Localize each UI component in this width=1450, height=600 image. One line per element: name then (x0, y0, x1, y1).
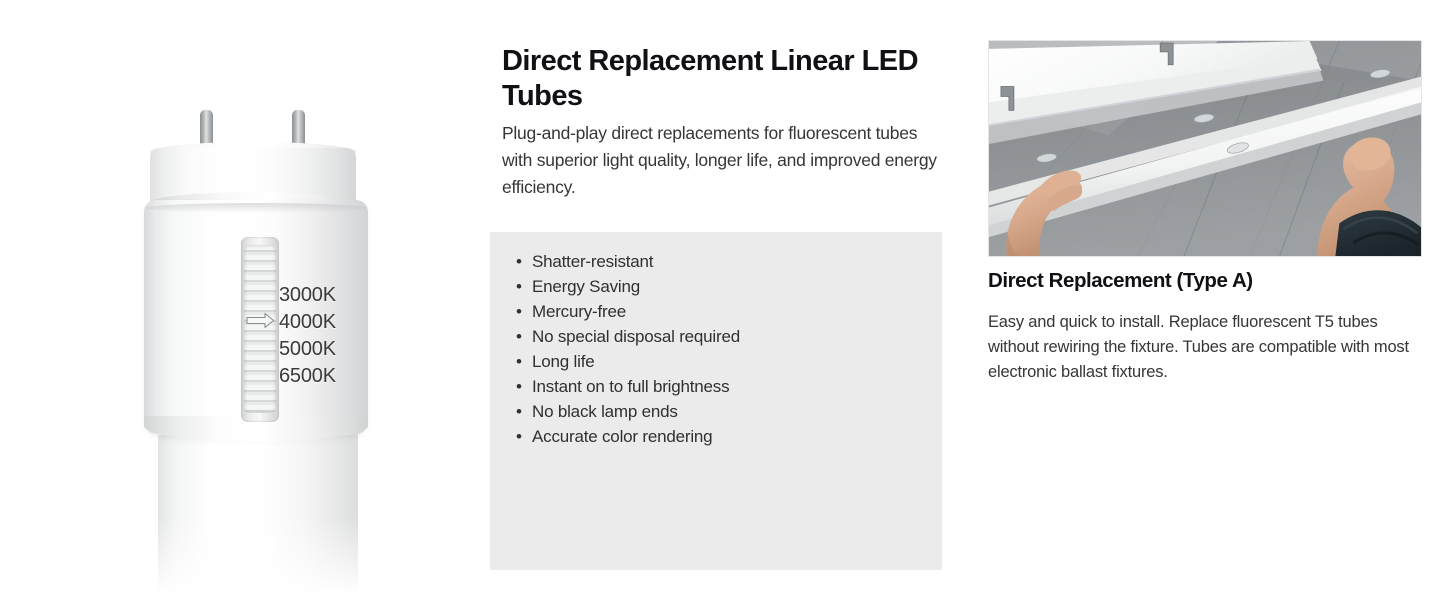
installation-photo-graphic (989, 41, 1421, 256)
list-item: • Energy Saving (514, 274, 740, 299)
list-item: • Long life (514, 349, 740, 374)
features-list: • Shatter-resistant • Energy Saving • Me… (514, 249, 740, 449)
list-item: • No black lamp ends (514, 399, 740, 424)
intro-paragraph: Plug-and-play direct replacements for fl… (502, 120, 946, 201)
side-heading: Direct Replacement (Type A) (988, 268, 1253, 294)
feature-label: No black lamp ends (532, 402, 678, 421)
main-content-column: Direct Replacement Linear LED Tubes Plug… (502, 0, 948, 600)
features-panel: • Shatter-resistant • Energy Saving • Me… (490, 232, 942, 570)
feature-label: Energy Saving (532, 277, 640, 296)
product-feature-page: 3000K 4000K 5000K 6500K Direct Replaceme… (0, 0, 1450, 600)
feature-label: Long life (532, 352, 594, 371)
page-title: Direct Replacement Linear LED Tubes (502, 44, 932, 114)
product-image: 3000K 4000K 5000K 6500K (0, 0, 480, 600)
list-item: • Shatter-resistant (514, 249, 740, 274)
bullet-icon: • (516, 374, 522, 399)
side-content-column: Direct Replacement (Type A) Easy and qui… (988, 0, 1428, 600)
list-item: • Accurate color rendering (514, 424, 740, 449)
feature-label: Accurate color rendering (532, 427, 712, 446)
feature-label: Instant on to full brightness (532, 377, 729, 396)
cct-label-3000k: 3000K (279, 282, 389, 309)
feature-label: Shatter-resistant (532, 252, 653, 271)
bullet-icon: • (516, 249, 522, 274)
bullet-icon: • (516, 274, 522, 299)
bullet-icon: • (516, 399, 522, 424)
list-item: • Mercury-free (514, 299, 740, 324)
cct-label-4000k: 4000K (279, 309, 389, 336)
cct-switch-ribbed-track (244, 245, 276, 413)
feature-label: No special disposal required (532, 327, 740, 346)
side-paragraph: Easy and quick to install. Replace fluor… (988, 310, 1416, 385)
list-item: • Instant on to full brightness (514, 374, 740, 399)
bullet-icon: • (516, 349, 522, 374)
cct-selector-switch[interactable] (241, 237, 279, 422)
installation-photo (988, 40, 1422, 257)
bullet-icon: • (516, 324, 522, 349)
end-cap-seam (146, 203, 366, 213)
bullet-icon: • (516, 299, 522, 324)
feature-label: Mercury-free (532, 302, 626, 321)
cct-label-5000k: 5000K (279, 336, 389, 363)
cct-label-6500k: 6500K (279, 363, 389, 390)
list-item: • No special disposal required (514, 324, 740, 349)
cct-selector-arrow-icon (245, 312, 275, 329)
cct-label-group: 3000K 4000K 5000K 6500K (279, 282, 389, 390)
tube-lower-body (158, 420, 358, 595)
bullet-icon: • (516, 424, 522, 449)
